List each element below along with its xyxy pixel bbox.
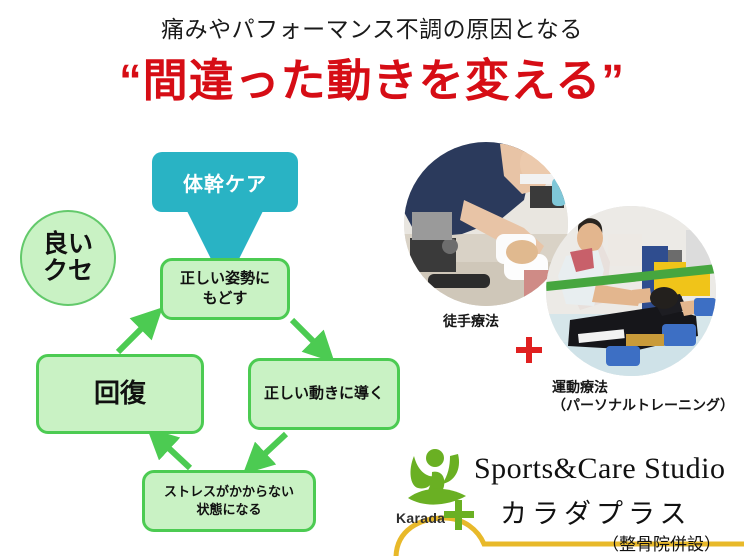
arrow-posture-to-movement [292, 320, 322, 350]
photo-exercise-therapy-caption: 運動療法 （パーソナルトレーニング） [552, 378, 734, 414]
plus-icon [516, 337, 542, 363]
photo-exercise-therapy [546, 206, 716, 376]
cycle-entry-taikan-care[interactable]: 体幹ケア [152, 152, 298, 212]
stress-line2: 状態になる [196, 502, 261, 517]
posture-line1: 正しい姿勢に [180, 270, 270, 287]
good-habit-line1: 良い [43, 230, 93, 258]
cycle-node-recovery[interactable]: 回復 [36, 354, 204, 434]
good-habit-line2: クセ [43, 257, 93, 285]
cycle-node-posture[interactable]: 正しい姿勢に もどす [160, 258, 290, 320]
cycle-node-movement[interactable]: 正しい動きに導く [248, 358, 400, 430]
slide-title: “間違った動きを変える” [0, 44, 744, 109]
studio-logo: Karada Sports&Care Studio カラダプラス （整骨院併設） [396, 444, 744, 556]
cycle-node-stress[interactable]: ストレスがかからない 状態になる [142, 470, 316, 532]
arrow-stress-to-recovery [160, 440, 190, 468]
posture-line2: もどす [203, 290, 248, 307]
logo-name-japanese: カラダプラス [500, 492, 691, 531]
slide-subtitle: 痛みやパフォーマンス不調の原因となる [0, 10, 744, 44]
logo-subtitle: （整骨院併設） [602, 530, 721, 555]
slide-canvas: 痛みやパフォーマンス不調の原因となる “間違った動きを変える” [0, 0, 744, 556]
photo-manual-therapy-image [404, 142, 568, 306]
stress-line1: ストレスがかからない [164, 484, 294, 499]
exercise-caption-line2: （パーソナルトレーニング） [552, 396, 734, 414]
logo-name-english: Sports&Care Studio [474, 452, 726, 486]
photo-manual-therapy [404, 142, 568, 306]
good-habit-label: 良い クセ [43, 231, 93, 286]
cycle-node-stress-label: ストレスがかからない 状態になる [164, 483, 294, 518]
good-habit-badge: 良い クセ [20, 210, 116, 306]
logo-karada-text: Karada [396, 510, 445, 526]
photo-manual-therapy-caption: 徒手療法 [443, 312, 499, 330]
photo-exercise-therapy-image [546, 206, 716, 376]
arrow-recovery-to-posture [118, 320, 150, 352]
arrow-movement-to-stress [256, 434, 286, 462]
cycle-node-posture-label: 正しい姿勢に もどす [180, 269, 270, 310]
logo-plus-icon [444, 500, 474, 530]
exercise-caption-line1: 運動療法 [552, 378, 734, 396]
